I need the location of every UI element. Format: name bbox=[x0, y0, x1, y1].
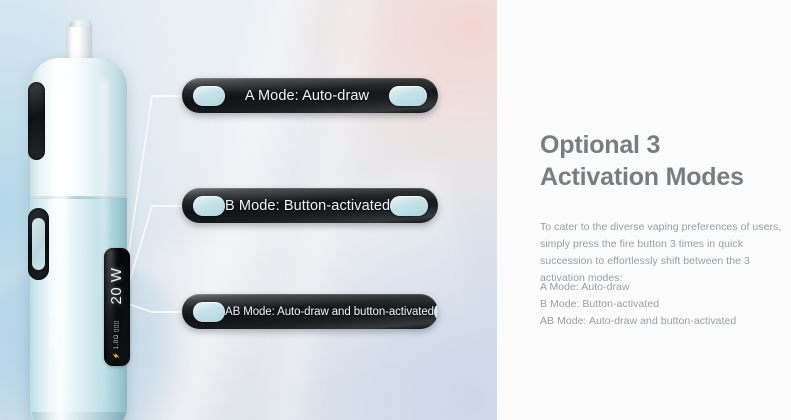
mode-list-item: AB Mode: Auto-draw and button-activated bbox=[540, 313, 785, 330]
callout-pill-a-mode: A Mode: Auto-draw bbox=[182, 78, 438, 113]
mode-list-item: B Mode: Button-activated bbox=[540, 296, 785, 313]
callout-label: A Mode: Auto-draw bbox=[225, 88, 389, 104]
device-seam bbox=[30, 196, 127, 199]
callout-cap-right-icon bbox=[389, 86, 427, 106]
panel-heading-line-1: Optional 3 bbox=[540, 129, 780, 161]
device-airflow-slot bbox=[28, 82, 45, 160]
device-brand-subtext: VAPE bbox=[51, 315, 65, 375]
device-mouthpiece-tip bbox=[69, 20, 90, 27]
callout-label: AB Mode: Auto-draw and button-activated bbox=[225, 306, 434, 318]
device-screen-indicators: ⚡ 1.0Ω ▯▯▯ bbox=[111, 318, 123, 362]
description-panel: Optional 3 Activation Modes To cater to … bbox=[497, 0, 791, 420]
panel-heading: Optional 3 Activation Modes bbox=[540, 129, 780, 193]
vape-device: 20 W ⚡ 1.0Ω ▯▯▯ aspire VAPE bbox=[22, 20, 132, 420]
device-base bbox=[32, 412, 125, 420]
callout-pill-b-mode: B Mode: Button-activated bbox=[182, 188, 438, 223]
product-feature-graphic: 20 W ⚡ 1.0Ω ▯▯▯ aspire VAPE A Mode: Auto… bbox=[0, 0, 791, 420]
mode-list: A Mode: Auto-draw B Mode: Button-activat… bbox=[540, 279, 785, 330]
callout-cap-right-icon bbox=[390, 196, 428, 216]
callout-cap-left-icon bbox=[193, 86, 225, 106]
mode-list-item: A Mode: Auto-draw bbox=[540, 279, 785, 296]
panel-heading-line-2: Activation Modes bbox=[540, 161, 780, 193]
device-fire-button[interactable] bbox=[32, 218, 45, 270]
callout-pill-ab-mode: AB Mode: Auto-draw and button-activated bbox=[182, 294, 438, 329]
device-screen: 20 W ⚡ 1.0Ω ▯▯▯ bbox=[104, 248, 130, 366]
callout-cap-left-icon bbox=[193, 302, 225, 322]
panel-paragraph: To cater to the diverse vaping preferenc… bbox=[540, 219, 785, 287]
product-image-panel: 20 W ⚡ 1.0Ω ▯▯▯ aspire VAPE A Mode: Auto… bbox=[0, 0, 497, 420]
callout-label: B Mode: Button-activated bbox=[225, 198, 390, 214]
callout-cap-left-icon bbox=[193, 196, 225, 216]
